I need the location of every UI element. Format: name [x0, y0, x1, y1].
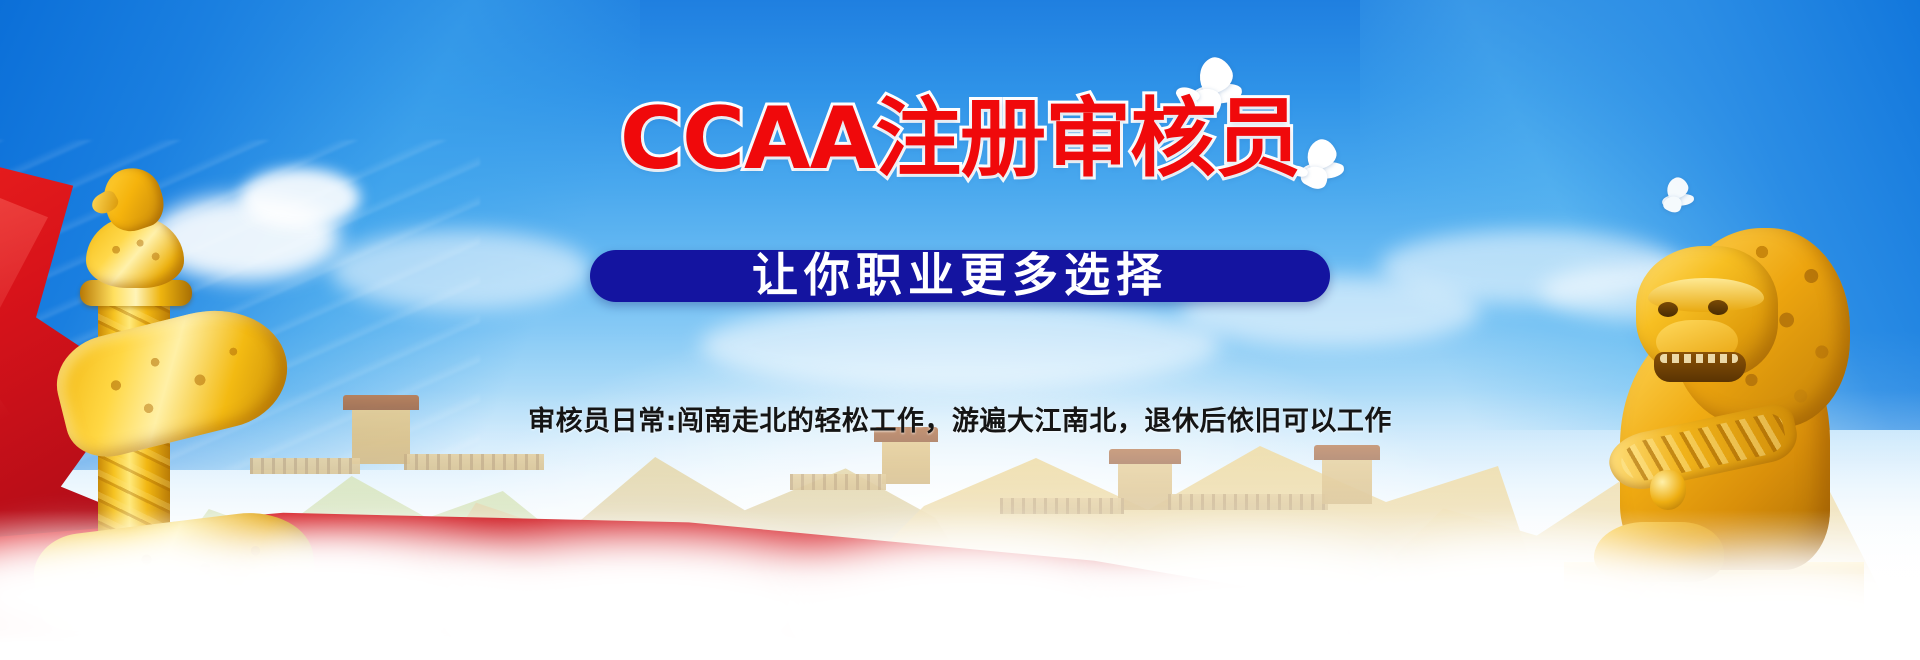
tagline-text: 审核员日常:闯南走北的轻松工作，游遍大江南北，退休后依旧可以工作	[0, 404, 1920, 439]
ccaa-promo-banner: CCAA注册审核员 让你职业更多选择 审核员日常:闯南走北的轻松工作，游遍大江南…	[0, 0, 1920, 660]
subtitle-pill[interactable]: 让你职业更多选择	[590, 250, 1330, 302]
banner-content: CCAA注册审核员 让你职业更多选择 审核员日常:闯南走北的轻松工作，游遍大江南…	[0, 0, 1920, 660]
subtitle-pill-label: 让你职业更多选择	[752, 252, 1168, 298]
page-title: CCAA注册审核员	[0, 96, 1920, 182]
subtitle-pill-wrap: 让你职业更多选择	[0, 250, 1920, 302]
